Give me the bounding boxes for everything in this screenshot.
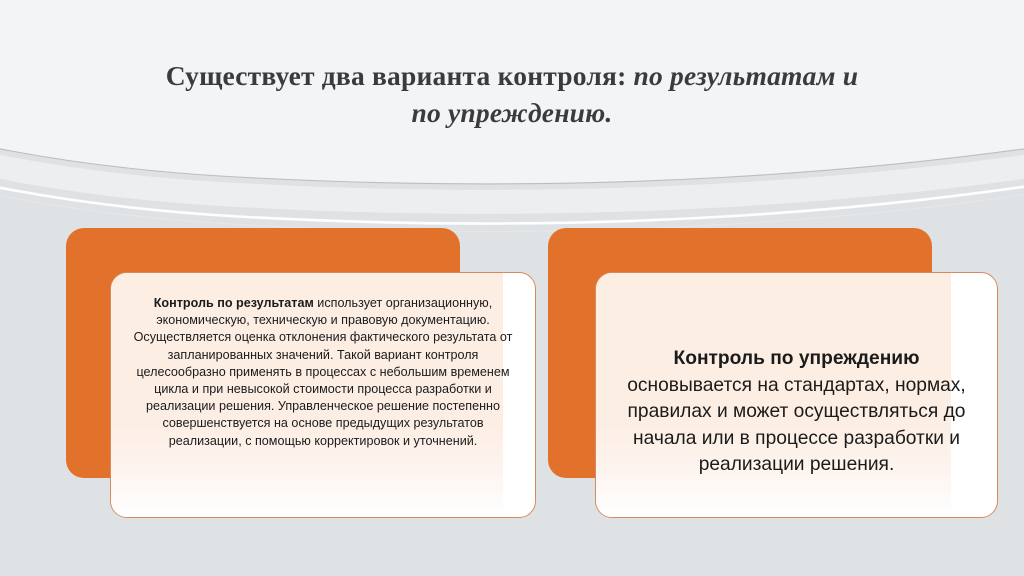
card-control-by-prevention[interactable]: Контроль по упреждению основывается на с… — [548, 228, 998, 518]
title-italic-text-2: по упреждению. — [411, 97, 612, 128]
card-front-left: Контроль по результатам использует орган… — [110, 272, 536, 518]
card-control-by-results[interactable]: Контроль по результатам использует орган… — [66, 228, 536, 518]
card-text-left: Контроль по результатам использует орган… — [111, 295, 535, 450]
slide: Существует два варианта контроля: по рез… — [0, 0, 1024, 576]
title-italic-text-1: по результатам и — [634, 60, 859, 91]
title-line-1: Существует два варианта контроля: по рез… — [62, 57, 962, 94]
card-heading-right: Контроль по упреждению — [674, 348, 920, 369]
card-front-right: Контроль по упреждению основывается на с… — [595, 272, 998, 518]
card-body-right: основывается на стандартах, нормах, прав… — [627, 375, 965, 476]
card-text-right: Контроль по упреждению основывается на с… — [596, 346, 997, 479]
card-heading-left: Контроль по результатам — [154, 296, 314, 310]
title-line-2: по упреждению. — [62, 94, 962, 131]
slide-title: Существует два варианта контроля: по рез… — [62, 57, 962, 131]
title-plain-text: Существует два варианта контроля: — [166, 60, 634, 91]
card-body-left: использует организационную, экономическу… — [134, 296, 513, 448]
